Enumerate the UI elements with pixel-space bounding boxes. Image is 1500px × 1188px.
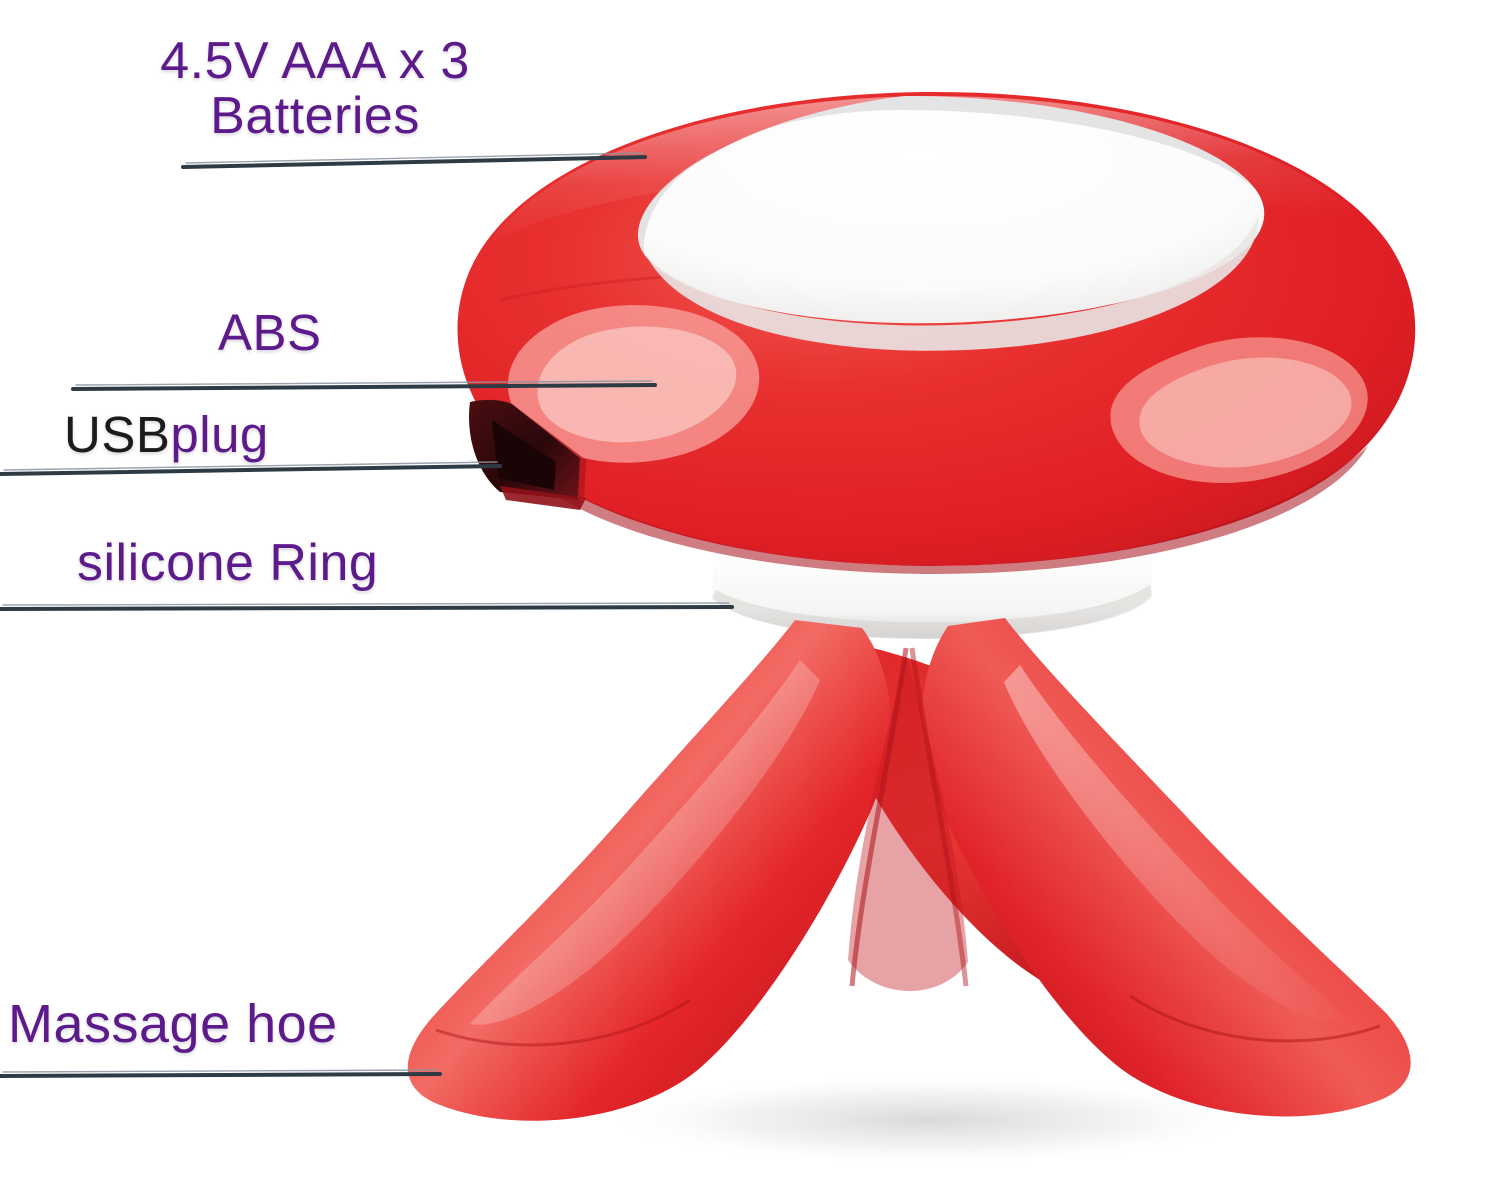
callout-label-abs: ABS xyxy=(218,303,322,362)
callout-batteries-line2: Batteries xyxy=(100,89,530,144)
callout-massage-hoe-text: Massage hoe xyxy=(8,994,338,1054)
callout-label-batteries: 4.5V AAA x 3 Batteries xyxy=(100,34,530,143)
callout-label-silicone-ring: silicone Ring xyxy=(77,533,378,593)
product-annotation-image: 4.5V AAA x 3 Batteries ABS USBplug silic… xyxy=(0,0,1500,1188)
callout-abs-text: ABS xyxy=(218,304,322,361)
callout-label-usb-plug: USBplug xyxy=(64,405,269,464)
callout-usb-prefix: USB xyxy=(64,406,170,463)
callout-label-massage-hoe: Massage hoe xyxy=(8,993,338,1055)
callout-silicone-ring-text: silicone Ring xyxy=(77,534,378,592)
callout-usb-plug-text: plug xyxy=(170,406,268,463)
callout-batteries-line1: 4.5V AAA x 3 xyxy=(160,32,470,90)
